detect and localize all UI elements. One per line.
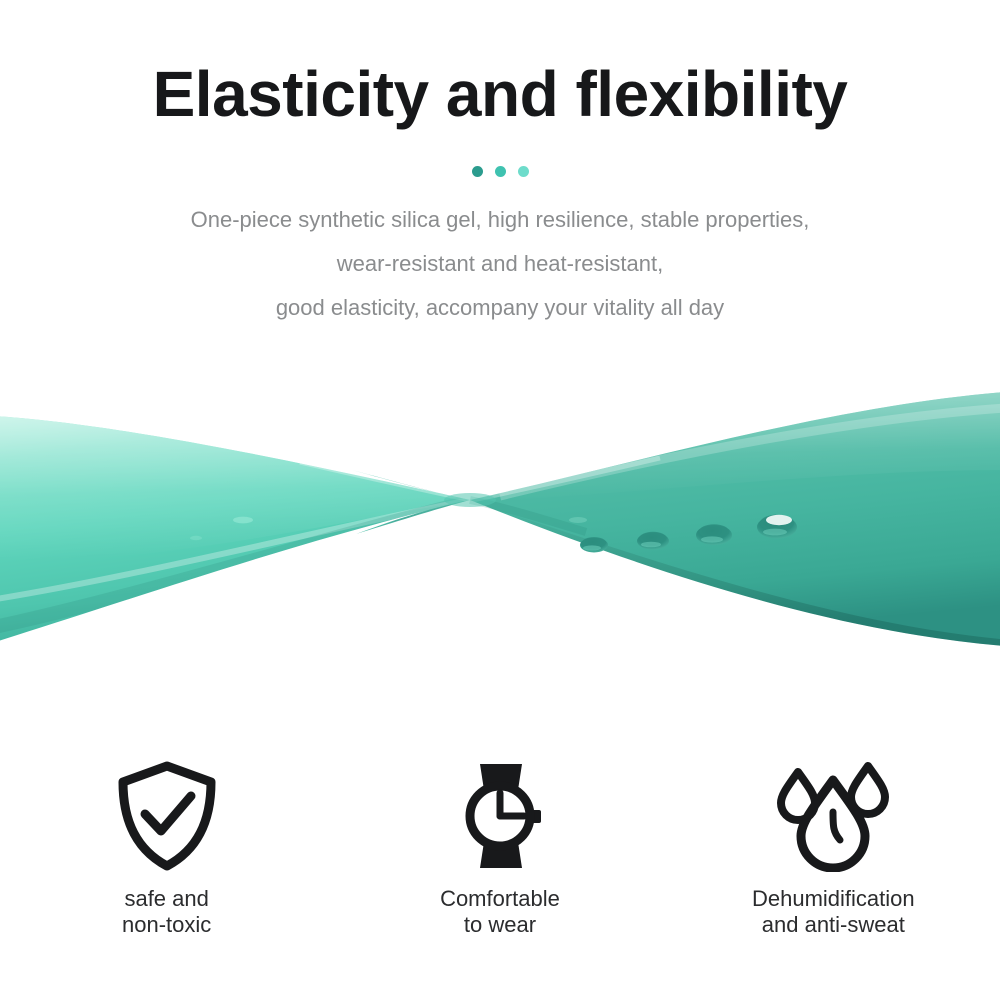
feature-comfortable-to-wear-label: Comfortable to wear bbox=[440, 886, 560, 938]
water-drop-center-highlight bbox=[833, 812, 840, 840]
twist-pinch-point bbox=[444, 493, 496, 507]
band-left-speck bbox=[233, 517, 253, 524]
band-right-speck bbox=[569, 517, 587, 523]
product-photo bbox=[0, 380, 1000, 680]
adjustment-hole-1 bbox=[580, 537, 608, 552]
wristwatch-icon-wrap bbox=[448, 762, 552, 870]
feature-comfortable-to-wear: Comfortable to wear bbox=[333, 762, 666, 938]
feature-1-line-1: safe and bbox=[122, 886, 211, 912]
band-right-half bbox=[468, 392, 1000, 660]
wristwatch-icon bbox=[448, 760, 552, 872]
subtitle-line-3: good elasticity, accompany your vitality… bbox=[0, 286, 1000, 330]
feature-3-line-1: Dehumidification bbox=[752, 886, 915, 912]
feature-safe-non-toxic: safe and non-toxic bbox=[0, 762, 333, 938]
water-drops-icon-wrap bbox=[774, 762, 892, 870]
dot-dark bbox=[472, 166, 483, 177]
dot-separator bbox=[0, 166, 1000, 177]
subtitle-line-1: One-piece synthetic silica gel, high res… bbox=[0, 198, 1000, 242]
product-feature-page: Elasticity and flexibility One-piece syn… bbox=[0, 0, 1000, 1000]
feature-row: safe and non-toxic bbox=[0, 762, 1000, 938]
water-drops-icon bbox=[774, 760, 892, 872]
feature-1-line-2: non-toxic bbox=[122, 912, 211, 938]
feature-dehumidification: Dehumidification and anti-sweat bbox=[667, 762, 1000, 938]
shield-check-icon-wrap bbox=[115, 762, 219, 870]
feature-3-line-2: and anti-sweat bbox=[752, 912, 915, 938]
subtitle-line-2: wear-resistant and heat-resistant, bbox=[0, 242, 1000, 286]
feature-dehumidification-label: Dehumidification and anti-sweat bbox=[752, 886, 915, 938]
band-left-half bbox=[0, 416, 472, 642]
band-left-speck-small bbox=[190, 536, 202, 540]
feature-2-line-2: to wear bbox=[440, 912, 560, 938]
subtitle-block: One-piece synthetic silica gel, high res… bbox=[0, 198, 1000, 330]
adjustment-hole-4-specular bbox=[766, 515, 792, 525]
feature-safe-non-toxic-label: safe and non-toxic bbox=[122, 886, 211, 938]
shield-check-icon bbox=[115, 760, 219, 872]
band-left-sheen bbox=[0, 416, 470, 561]
dot-light bbox=[518, 166, 529, 177]
feature-2-line-1: Comfortable bbox=[440, 886, 560, 912]
dot-mid bbox=[495, 166, 506, 177]
page-title: Elasticity and flexibility bbox=[0, 62, 1000, 126]
